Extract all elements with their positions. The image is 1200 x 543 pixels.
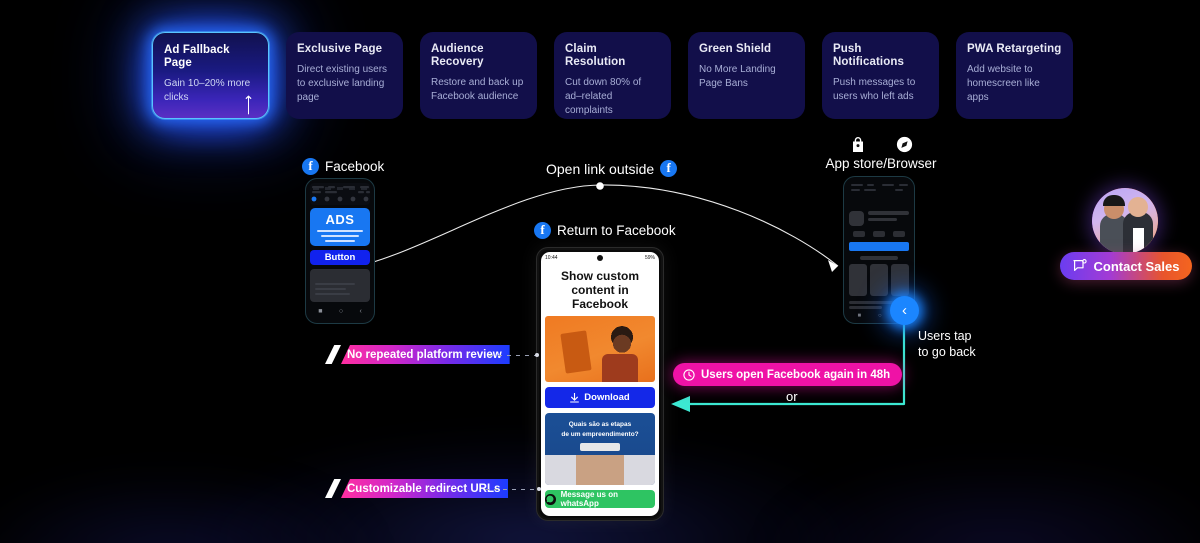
store-browser-icons xyxy=(806,136,956,153)
skeleton-line xyxy=(321,235,359,237)
contact-sales-label: Contact Sales xyxy=(1094,259,1180,274)
promo-line-1: Quais são as etapas xyxy=(545,413,655,429)
feature-card-title: PWA Retargeting xyxy=(967,43,1062,56)
ads-cta-button[interactable]: Button xyxy=(310,250,370,265)
feature-card-green-shield[interactable]: Green Shield No More Landing Page Bans xyxy=(688,32,805,119)
ribbon-customizable-redirect-urls: Customizable redirect URLs xyxy=(325,479,508,498)
camera-punch-hole xyxy=(597,255,603,261)
ribbon-connector-line xyxy=(485,489,537,490)
facebook-icon: f xyxy=(534,222,551,239)
feature-card-desc: Add website to homescreen like apps xyxy=(967,63,1062,105)
photo-person xyxy=(602,354,638,382)
whatsapp-button[interactable]: Message us on whatsApp xyxy=(545,490,655,508)
ribbon-connector-dot xyxy=(535,353,539,357)
label-or: or xyxy=(786,389,798,404)
background-glow-center xyxy=(180,430,880,543)
hero-photo xyxy=(545,316,655,382)
shopping-bag-icon xyxy=(850,136,866,153)
download-label: Download xyxy=(584,392,629,403)
android-navbar: ■○‹ xyxy=(310,305,370,317)
background-glow-left xyxy=(0,470,380,543)
status-bar: 10:44 59% xyxy=(541,252,659,263)
badge-users-open-facebook-48h: Users open Facebook again in 48h xyxy=(673,363,902,386)
phone-screen: 10:44 59% Show custom content in Faceboo… xyxy=(541,252,659,516)
ribbon-connector-dot xyxy=(537,487,541,491)
label-users-tap-to-go-back: Users tapto go back xyxy=(918,328,976,360)
background-glow-right xyxy=(760,460,1200,543)
feature-card-desc: Direct existing users to exclusive landi… xyxy=(297,63,392,105)
clock-icon xyxy=(683,369,695,381)
avatar xyxy=(1092,188,1158,254)
ribbon-connector-line xyxy=(489,355,537,356)
feature-card-ad-fallback-page[interactable]: Ad Fallback Page Gain 10–20% more clicks… xyxy=(152,32,269,119)
ads-banner: ADS xyxy=(310,208,370,246)
status-battery: 59% xyxy=(645,255,655,261)
phone-topbar-skeleton xyxy=(310,183,370,205)
feed-placeholder xyxy=(310,269,370,302)
promo-line-2: de um empreendimento? xyxy=(545,429,655,439)
feature-card-title: Claim Resolution xyxy=(565,43,660,69)
feature-card-claim-resolution[interactable]: Claim Resolution Cut down 80% of ad–rela… xyxy=(554,32,671,119)
avatar-shirt xyxy=(1133,228,1144,254)
feature-card-title: Audience Recovery xyxy=(431,43,526,69)
promo-chip xyxy=(580,443,620,451)
phone-custom-content: 10:44 59% Show custom content in Faceboo… xyxy=(537,248,663,520)
contact-sales-button[interactable]: Contact Sales xyxy=(1060,252,1192,280)
label-text: Facebook xyxy=(325,159,384,174)
feature-card-pwa-retargeting[interactable]: PWA Retargeting Add website to homescree… xyxy=(956,32,1073,119)
skeleton-icons xyxy=(310,183,372,205)
phone-facebook-feed: ADS Button ■○‹ xyxy=(305,178,375,324)
label-app-store-browser: App store/Browser xyxy=(806,136,956,171)
photo-bag xyxy=(560,330,591,373)
feature-card-desc: Restore and back up Facebook audience xyxy=(431,76,526,104)
avatar-image xyxy=(1092,188,1158,254)
diagram-canvas: Ad Fallback Page Gain 10–20% more clicks… xyxy=(0,0,1200,543)
label-text: App store/Browser xyxy=(806,156,956,171)
feature-card-audience-recovery[interactable]: Audience Recovery Restore and back up Fa… xyxy=(420,32,537,119)
feature-card-push-notifications[interactable]: Push Notifications Push messages to user… xyxy=(822,32,939,119)
whatsapp-label: Message us on whatsApp xyxy=(561,490,655,508)
label-text: Return to Facebook xyxy=(557,223,676,238)
compass-icon xyxy=(896,136,913,153)
label-facebook: f Facebook xyxy=(302,158,384,175)
skeleton-line xyxy=(325,240,355,242)
ads-label: ADS xyxy=(326,212,355,227)
handshake-photo xyxy=(545,455,655,485)
feature-card-desc: Cut down 80% of ad–related complaints xyxy=(565,76,660,118)
app-stats xyxy=(849,231,909,237)
feature-card-desc: No More Landing Page Bans xyxy=(699,63,794,91)
feature-card-exclusive-page[interactable]: Exclusive Page Direct existing users to … xyxy=(286,32,403,119)
feature-card-title: Exclusive Page xyxy=(297,43,392,56)
feature-card-title: Push Notifications xyxy=(833,43,928,69)
badge-label: Users open Facebook again in 48h xyxy=(701,369,890,381)
label-text: Open link outside xyxy=(546,161,654,177)
chevron-left-icon: ‹ xyxy=(902,302,907,319)
download-button[interactable]: Download xyxy=(545,387,655,408)
facebook-icon: f xyxy=(302,158,319,175)
label-open-link-outside: Open link outside f xyxy=(546,160,677,177)
promo-card[interactable]: Quais são as etapas de um empreendimento… xyxy=(545,413,655,485)
ribbon-slash xyxy=(325,345,341,364)
whatsapp-icon xyxy=(545,494,556,505)
skeleton-icons xyxy=(849,182,911,202)
label-return-to-facebook: f Return to Facebook xyxy=(534,222,676,239)
chat-bubble-icon xyxy=(1073,259,1087,273)
app-header xyxy=(849,211,909,226)
skeleton-line xyxy=(860,256,897,260)
ribbon-label: Customizable redirect URLs xyxy=(341,479,508,498)
ribbon-no-repeated-platform-review: No repeated platform review xyxy=(325,345,510,364)
feature-cards-row: Ad Fallback Page Gain 10–20% more clicks… xyxy=(152,32,1073,119)
skeleton-line xyxy=(317,230,363,232)
facebook-icon: f xyxy=(660,160,677,177)
screenshot-tiles xyxy=(849,264,909,296)
ribbon-label: No repeated platform review xyxy=(341,345,510,364)
status-time: 10:44 xyxy=(545,255,558,261)
ribbon-slash xyxy=(325,479,341,498)
feature-card-desc: Push messages to users who left ads xyxy=(833,76,928,104)
back-button[interactable]: ‹ xyxy=(890,296,919,325)
install-button[interactable] xyxy=(849,242,909,251)
download-icon xyxy=(570,393,579,403)
arrow-down-right-icon: ⟶ xyxy=(242,95,256,115)
page-headline: Show custom content in Facebook xyxy=(541,263,659,316)
feature-card-title: Ad Fallback Page xyxy=(164,44,257,70)
feature-card-title: Green Shield xyxy=(699,43,794,56)
